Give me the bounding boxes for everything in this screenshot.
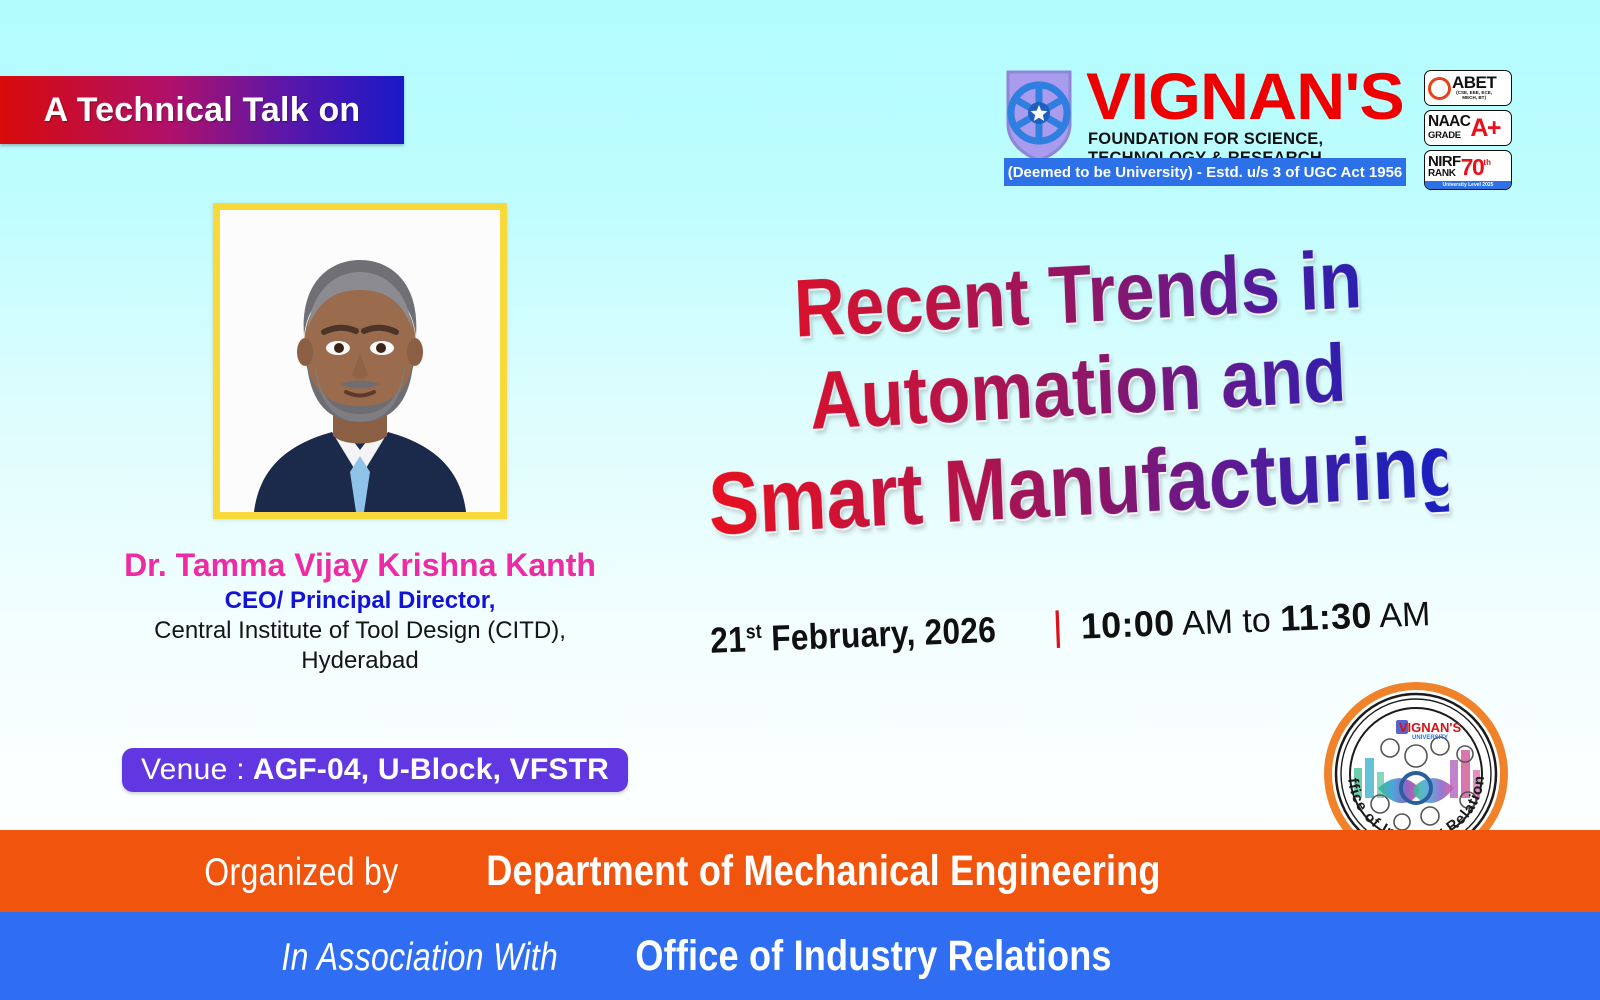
speaker-city: Hyderabad bbox=[40, 646, 680, 676]
organized-by-prefix: Organized by bbox=[204, 851, 398, 895]
venue-pill: Venue : AGF-04, U-Block, VFSTR bbox=[122, 748, 628, 792]
speaker-name: Dr. Tamma Vijay Krishna Kanth bbox=[40, 548, 680, 584]
badge-abet: ABET (CSE, EEE, ECE, MECH, BT) bbox=[1424, 70, 1512, 106]
badge-nirf-title: NIRF bbox=[1428, 155, 1461, 169]
event-date-day-suffix: st bbox=[745, 621, 762, 644]
badge-naac-sub: GRADE bbox=[1428, 130, 1470, 141]
event-date-month-year: February, 2026 bbox=[761, 609, 996, 659]
brand-strip-label: (Deemed to be University) - Estd. u/s 3 … bbox=[1008, 164, 1403, 181]
university-brand: VIGNAN'S FOUNDATION FOR SCIENCE, TECHNOL… bbox=[1002, 64, 1406, 190]
svg-text:VIGNAN'S: VIGNAN'S bbox=[1399, 720, 1462, 735]
badge-nirf-suffix: th bbox=[1483, 158, 1491, 167]
vignan-shield-icon bbox=[1002, 66, 1076, 164]
organized-by-bar: Organized by Department of Mechanical En… bbox=[0, 830, 1600, 912]
badge-nirf: NIRF RANK 70 th University Level 2025 bbox=[1424, 150, 1512, 190]
speaker-portrait bbox=[220, 210, 500, 512]
accreditation-badges: ABET (CSE, EEE, ECE, MECH, BT) NAAC GRAD… bbox=[1424, 70, 1516, 192]
badge-naac: NAAC GRADE A+ bbox=[1424, 110, 1512, 146]
svg-text:UNIVERSITY: UNIVERSITY bbox=[1412, 735, 1448, 741]
event-time-start: 10:00 bbox=[1080, 602, 1175, 647]
speaker-role: CEO/ Principal Director, bbox=[40, 586, 680, 616]
venue-label: Venue : bbox=[141, 753, 245, 787]
event-time-start-meridiem: AM to bbox=[1174, 601, 1281, 643]
association-value: Office of Industry Relations bbox=[636, 932, 1112, 981]
badge-abet-sub2: MECH, BT) bbox=[1452, 96, 1496, 101]
event-time: 10:00 AM to 11:30 AM bbox=[1080, 592, 1431, 647]
datetime-separator: | bbox=[1052, 608, 1064, 644]
badge-nirf-value: 70 bbox=[1461, 158, 1484, 176]
event-date-day: 21 bbox=[709, 618, 746, 660]
abet-ring-icon bbox=[1428, 77, 1451, 100]
badge-nirf-footer: University Level 2025 bbox=[1425, 181, 1511, 189]
association-prefix: In Association With bbox=[281, 936, 558, 980]
badge-naac-title: NAAC bbox=[1428, 115, 1470, 129]
badge-naac-value: A+ bbox=[1470, 118, 1500, 138]
technical-talk-ribbon: A Technical Talk on bbox=[0, 76, 404, 144]
event-time-end-meridiem: AM bbox=[1371, 595, 1431, 635]
speaker-organization: Central Institute of Tool Design (CITD), bbox=[40, 616, 680, 646]
speaker-details: Dr. Tamma Vijay Krishna Kanth CEO/ Princ… bbox=[40, 548, 680, 676]
badge-nirf-sub: RANK bbox=[1428, 168, 1461, 179]
association-bar: In Association With Office of Industry R… bbox=[0, 912, 1600, 1000]
venue-value: AGF-04, U-Block, VFSTR bbox=[253, 753, 609, 787]
brand-name: VIGNAN'S bbox=[1086, 58, 1404, 134]
technical-talk-label: A Technical Talk on bbox=[44, 91, 361, 130]
event-poster: A Technical Talk on VIGNAN'S bbox=[0, 0, 1600, 1000]
speaker-photo-frame bbox=[213, 203, 507, 519]
event-time-end: 11:30 bbox=[1279, 594, 1372, 638]
organized-by-value: Department of Mechanical Engineering bbox=[486, 847, 1160, 896]
event-title: Recent Trends in Automation and Smart Ma… bbox=[648, 252, 1508, 531]
event-datetime: 21st February, 2026 | 10:00 AM to 11:30 … bbox=[699, 592, 1440, 662]
brand-strip: (Deemed to be University) - Estd. u/s 3 … bbox=[1004, 158, 1406, 186]
event-date: 21st February, 2026 bbox=[709, 609, 996, 662]
badge-abet-title: ABET bbox=[1452, 75, 1496, 91]
